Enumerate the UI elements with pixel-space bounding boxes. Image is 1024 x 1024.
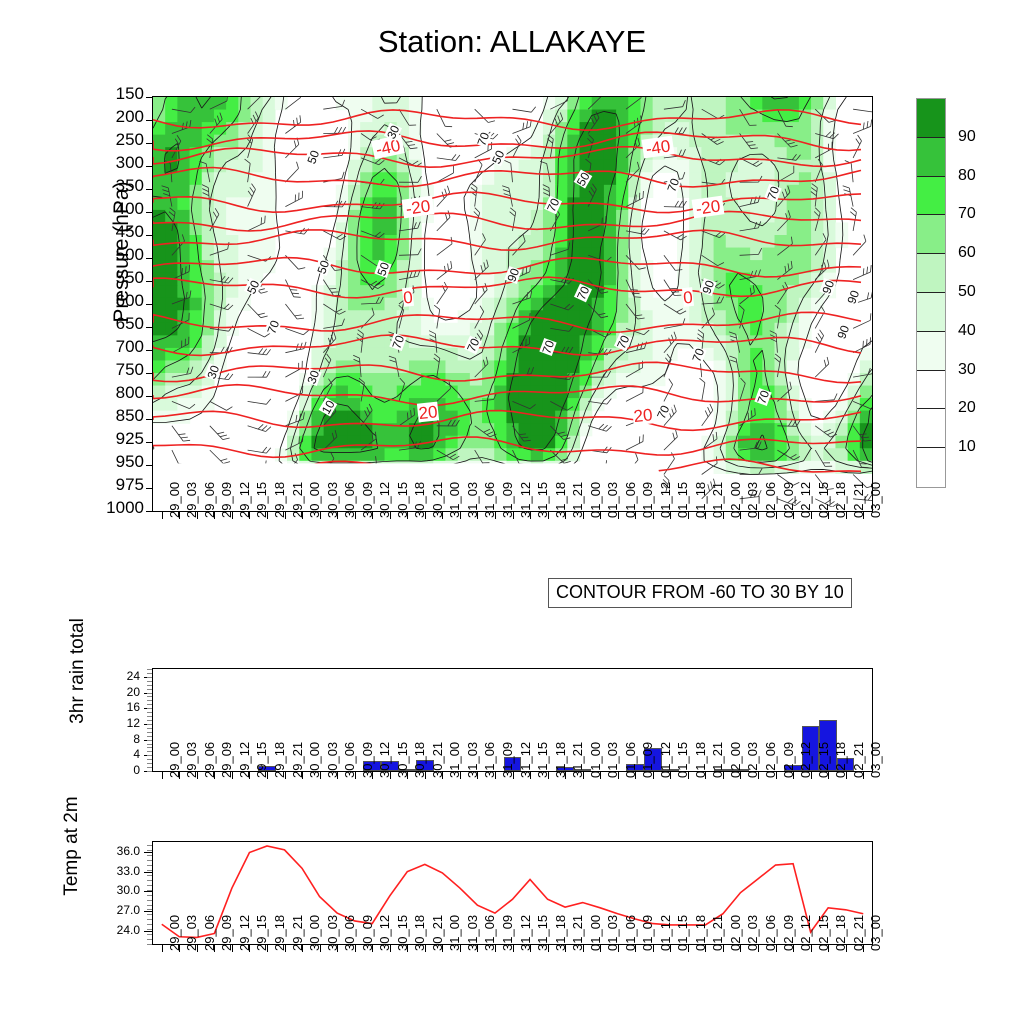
cross-section-plot: -40-40-20-200020203070505050707070505050… (152, 96, 873, 512)
x-tick-mark (214, 945, 215, 952)
x-tick-mark (548, 512, 549, 519)
x-tick-mark (530, 945, 531, 952)
x-tick-mark (355, 772, 356, 779)
temp-y-tick-label: 30.0 (100, 885, 140, 895)
colorbar-tick-label: 70 (958, 205, 976, 223)
main-y-tick-label: 400 (92, 203, 144, 215)
x-tick-mark (267, 512, 268, 519)
x-tick-mark (390, 945, 391, 952)
x-tick-mark (320, 772, 321, 779)
svg-text:90: 90 (844, 288, 862, 306)
x-tick-mark (214, 512, 215, 519)
x-tick-mark (407, 772, 408, 779)
temp-y-tick-label: 33.0 (100, 866, 140, 876)
x-tick-mark (285, 512, 286, 519)
x-tick-mark (583, 772, 584, 779)
colorbar-band (917, 332, 945, 371)
x-tick-mark (828, 512, 829, 519)
x-tick-label: 03_00 (868, 742, 883, 778)
main-y-tick-label: 950 (92, 456, 144, 468)
x-tick-mark (618, 945, 619, 952)
x-tick-mark (530, 772, 531, 779)
colorbar-band (917, 293, 945, 332)
x-tick-mark (390, 772, 391, 779)
colorbar-tick-label: 40 (958, 322, 976, 340)
x-tick-mark (442, 512, 443, 519)
x-tick-mark (583, 512, 584, 519)
x-tick-mark (618, 512, 619, 519)
x-tick-mark (828, 772, 829, 779)
x-tick-mark (565, 512, 566, 519)
x-tick-mark (442, 772, 443, 779)
colorbar-band (917, 215, 945, 254)
x-tick-mark (600, 945, 601, 952)
x-tick-mark (179, 512, 180, 519)
x-tick-mark (179, 772, 180, 779)
x-tick-mark (863, 772, 864, 779)
x-tick-mark (320, 512, 321, 519)
x-tick-mark (565, 945, 566, 952)
colorbar-band (917, 448, 945, 487)
temp-y-tick-mark (144, 852, 152, 853)
colorbar-band (917, 254, 945, 293)
x-tick-mark (513, 772, 514, 779)
x-tick-mark (811, 945, 812, 952)
x-tick-mark (232, 512, 233, 519)
x-tick-mark (513, 512, 514, 519)
x-tick-mark (162, 945, 163, 952)
temp-y-tick-label: 36.0 (100, 846, 140, 856)
x-tick-mark (425, 512, 426, 519)
x-tick-mark (723, 772, 724, 779)
svg-text:70: 70 (264, 318, 282, 336)
x-tick-mark (249, 945, 250, 952)
x-tick-mark (407, 945, 408, 952)
svg-text:-40: -40 (645, 136, 672, 158)
colorbar-tick-label: 10 (958, 438, 976, 456)
x-tick-mark (477, 512, 478, 519)
x-tick-mark (863, 945, 864, 952)
x-tick-mark (267, 772, 268, 779)
colorbar-band (917, 371, 945, 410)
colorbar-band (917, 99, 945, 138)
main-y-tick-label: 550 (92, 272, 144, 284)
temp-y-tick-label: 24.0 (100, 925, 140, 935)
x-tick-mark (337, 945, 338, 952)
figure-root: Station: ALLAKAYE Pressure (hPa) 1502002… (0, 0, 1024, 1024)
x-tick-mark (846, 945, 847, 952)
main-y-tick-label: 200 (92, 111, 144, 123)
x-tick-mark (688, 772, 689, 779)
colorbar-tick-label: 30 (958, 361, 976, 379)
contour-note: CONTOUR FROM -60 TO 30 BY 10 (548, 578, 852, 608)
colorbar-tick-label: 80 (958, 167, 976, 185)
temp-y-tick-mark (144, 911, 152, 912)
x-tick-mark (372, 512, 373, 519)
x-tick-mark (390, 512, 391, 519)
x-tick-mark (548, 772, 549, 779)
x-tick-mark (740, 945, 741, 952)
x-tick-mark (162, 512, 163, 519)
colorbar-tick-label: 20 (958, 399, 976, 417)
x-tick-mark (653, 945, 654, 952)
svg-text:20: 20 (633, 405, 654, 426)
x-tick-mark (758, 945, 759, 952)
x-tick-mark (477, 945, 478, 952)
page-title: Station: ALLAKAYE (0, 24, 1024, 60)
x-tick-mark (635, 945, 636, 952)
cross-section-canvas: -40-40-20-200020203070505050707070505050… (153, 97, 872, 511)
colorbar-band (917, 409, 945, 448)
main-y-tick-label: 500 (92, 249, 144, 261)
rain-y-tick-label: 12 (110, 718, 140, 728)
x-tick-mark (407, 512, 408, 519)
x-tick-mark (723, 512, 724, 519)
svg-text:-20: -20 (695, 196, 722, 218)
colorbar-tick-label: 60 (958, 244, 976, 262)
rain-y-tick-label: 0 (110, 765, 140, 775)
x-tick-mark (793, 512, 794, 519)
x-tick-mark (776, 945, 777, 952)
x-tick-mark (758, 512, 759, 519)
svg-text:20: 20 (418, 402, 439, 423)
x-tick-mark (670, 945, 671, 952)
x-tick-mark (495, 945, 496, 952)
x-tick-mark (776, 512, 777, 519)
colorbar-tick-label: 50 (958, 283, 976, 301)
main-y-tick-label: 300 (92, 157, 144, 169)
main-y-tick-label: 650 (92, 318, 144, 330)
rain-y-tick-label: 24 (110, 671, 140, 681)
x-tick-mark (583, 945, 584, 952)
x-tick-mark (425, 945, 426, 952)
main-y-tick-label: 800 (92, 387, 144, 399)
svg-text:90: 90 (834, 323, 852, 341)
x-tick-mark (513, 945, 514, 952)
x-tick-label: 03_00 (868, 482, 883, 518)
main-y-tick-label: 350 (92, 180, 144, 192)
temp-y-tick-mark (144, 872, 152, 873)
temp-y-tick-label: 27.0 (100, 905, 140, 915)
x-tick-mark (565, 772, 566, 779)
x-tick-mark (442, 945, 443, 952)
x-tick-mark (811, 772, 812, 779)
x-tick-mark (302, 512, 303, 519)
x-tick-mark (267, 945, 268, 952)
main-y-tick-label: 750 (92, 364, 144, 376)
x-tick-mark (705, 512, 706, 519)
x-tick-mark (600, 772, 601, 779)
x-tick-mark (162, 772, 163, 779)
x-tick-mark (197, 772, 198, 779)
rain-y-tick-label: 4 (110, 749, 140, 759)
x-tick-mark (635, 772, 636, 779)
x-tick-mark (232, 945, 233, 952)
main-y-tick-label: 450 (92, 226, 144, 238)
main-y-tick-label: 700 (92, 341, 144, 353)
x-tick-mark (863, 512, 864, 519)
x-tick-mark (355, 945, 356, 952)
x-tick-mark (197, 512, 198, 519)
rain-y-tick-label: 20 (110, 687, 140, 697)
x-tick-mark (670, 512, 671, 519)
x-tick-mark (635, 512, 636, 519)
x-tick-mark (302, 772, 303, 779)
x-tick-mark (249, 772, 250, 779)
x-tick-mark (705, 945, 706, 952)
svg-text:-20: -20 (405, 196, 432, 218)
x-tick-mark (705, 772, 706, 779)
colorbar-band (917, 177, 945, 216)
x-tick-mark (320, 945, 321, 952)
humidity-colorbar (916, 98, 946, 488)
x-tick-mark (653, 512, 654, 519)
x-tick-mark (355, 512, 356, 519)
main-y-tick-label: 1000 (92, 502, 144, 514)
x-tick-mark (688, 945, 689, 952)
x-tick-mark (618, 772, 619, 779)
x-tick-mark (337, 512, 338, 519)
x-tick-mark (793, 772, 794, 779)
temp-y-tick-mark (144, 891, 152, 892)
x-tick-mark (214, 772, 215, 779)
main-y-tick-label: 925 (92, 433, 144, 445)
x-tick-mark (811, 512, 812, 519)
x-tick-mark (530, 512, 531, 519)
svg-text:0: 0 (402, 288, 413, 308)
x-tick-mark (425, 772, 426, 779)
x-tick-mark (232, 772, 233, 779)
x-tick-mark (776, 772, 777, 779)
x-tick-mark (302, 945, 303, 952)
colorbar-tick-label: 90 (958, 128, 976, 146)
x-tick-mark (653, 772, 654, 779)
temp-y-tick-mark (144, 931, 152, 932)
x-tick-mark (460, 772, 461, 779)
x-tick-mark (179, 945, 180, 952)
x-tick-mark (249, 512, 250, 519)
x-tick-label: 03_00 (868, 915, 883, 951)
x-tick-mark (758, 772, 759, 779)
x-tick-mark (337, 772, 338, 779)
x-tick-mark (723, 945, 724, 952)
x-tick-mark (477, 772, 478, 779)
x-tick-mark (846, 512, 847, 519)
main-y-tick-label: 850 (92, 410, 144, 422)
svg-text:50: 50 (304, 148, 322, 166)
x-tick-mark (600, 512, 601, 519)
x-tick-mark (460, 512, 461, 519)
colorbar-band (917, 138, 945, 177)
x-tick-mark (670, 772, 671, 779)
x-tick-mark (740, 772, 741, 779)
main-y-tick-label: 600 (92, 295, 144, 307)
x-tick-mark (688, 512, 689, 519)
x-tick-mark (372, 772, 373, 779)
x-tick-mark (740, 512, 741, 519)
x-tick-mark (285, 945, 286, 952)
x-tick-mark (460, 945, 461, 952)
x-tick-mark (285, 772, 286, 779)
rain-y-tick-label: 8 (110, 734, 140, 744)
x-tick-mark (828, 945, 829, 952)
x-tick-mark (793, 945, 794, 952)
rain-y-axis-label: 3hr rain total (67, 571, 89, 771)
main-y-tick-label: 250 (92, 134, 144, 146)
x-tick-mark (495, 512, 496, 519)
main-y-tick-label: 150 (92, 88, 144, 100)
x-tick-mark (846, 772, 847, 779)
x-tick-mark (372, 945, 373, 952)
x-tick-mark (548, 945, 549, 952)
x-tick-mark (495, 772, 496, 779)
svg-text:0: 0 (682, 288, 693, 308)
main-y-tick-label: 975 (92, 479, 144, 491)
x-tick-mark (197, 945, 198, 952)
rain-y-tick-label: 16 (110, 702, 140, 712)
temp-y-axis-label: Temp at 2m (61, 746, 83, 946)
